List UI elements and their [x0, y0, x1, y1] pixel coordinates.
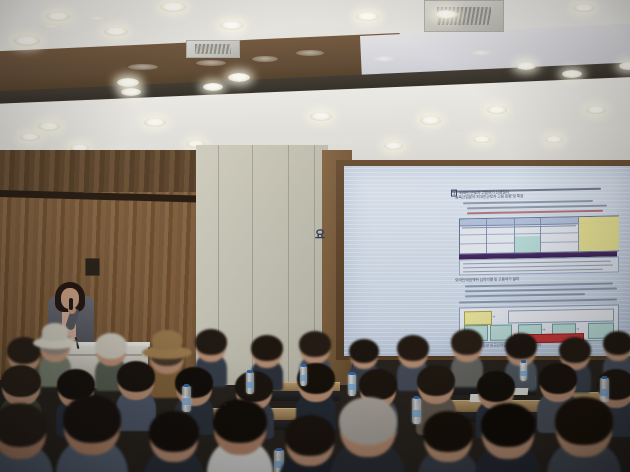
audience-member-hair [349, 339, 379, 363]
bottle-cap [414, 396, 420, 399]
water bottle [182, 386, 191, 412]
audience-member-hair [603, 331, 630, 355]
ceiling-downlight [562, 70, 582, 78]
ceiling-downlight [516, 62, 536, 70]
ceiling-downlight [434, 10, 458, 19]
audience-member-hair [423, 411, 473, 452]
audience-member-hair [559, 337, 591, 363]
water bottle [412, 398, 421, 424]
table-highlight-column [578, 222, 619, 251]
audience-member-hair [251, 335, 283, 361]
flow-start-box [464, 311, 492, 326]
flow-arrow-icon: ➜ [542, 327, 545, 332]
water bottle [348, 374, 356, 396]
bottle-cap [521, 360, 525, 363]
audience-member-hair [149, 411, 199, 452]
flow-arrow-icon: ➜ [576, 326, 579, 331]
ceiling-downlight [203, 83, 223, 91]
bottle-label [600, 389, 609, 396]
audience-member-hair [397, 335, 429, 361]
audience-member-hair [555, 397, 613, 445]
audience-member-hair [63, 395, 121, 443]
audience-member-hair [417, 365, 455, 396]
audience-member-hair [477, 371, 515, 402]
slide-text-line [463, 200, 593, 204]
water bottle [520, 362, 527, 381]
water bottle [600, 378, 609, 402]
ceiling-downlight [310, 112, 332, 121]
audience-member-hair [505, 333, 537, 359]
bottle-cap [349, 372, 354, 375]
panel-seam [288, 145, 289, 385]
slide-text-line [459, 298, 617, 303]
bottle-label [520, 371, 527, 377]
presentation-slide: 1외국인 근로자 고용허가 신청절차 농축산업분야 외국인근로자 고용 동향 및… [447, 170, 627, 351]
audience-member-hair [235, 371, 273, 402]
ceiling-downlight [372, 56, 396, 62]
vent-louvers [195, 44, 230, 54]
ceiling-downlight [619, 62, 630, 70]
wall-control-plate[interactable] [85, 258, 100, 276]
bottle-cap [247, 370, 252, 373]
ceiling-downlight [573, 4, 595, 12]
audience-member-hair [481, 403, 535, 447]
bottle-label [300, 375, 307, 381]
ceiling-downlight [160, 2, 186, 12]
bottle-label [412, 410, 421, 418]
flow-title-box [508, 309, 614, 324]
ceiling-downlight [470, 50, 492, 56]
audience-member-hair [175, 367, 213, 398]
ceiling-downlight [384, 142, 403, 150]
table-gridline [486, 219, 487, 253]
slide-flow-diagram: ➜ ➜ ➜ [459, 304, 619, 343]
bottle-label [348, 384, 356, 391]
bottle-cap [184, 384, 190, 387]
ceiling-downlight [20, 133, 40, 141]
hat-crown [42, 323, 68, 340]
slide-text-line [465, 283, 613, 287]
audience-member-hair [299, 331, 331, 357]
audience-member-hair [213, 399, 267, 443]
ceiling-downlight [46, 12, 70, 21]
ceiling-downlight [196, 60, 226, 66]
lecture-hall-photo: 요 1외국인 근로자 고용허가 신청절차 농축산업분야 외국인근로자 고용 동향… [0, 0, 630, 472]
ceiling-downlight [420, 116, 441, 125]
ceiling-downlight [356, 12, 379, 21]
ceiling-downlight [545, 136, 563, 143]
table-highlight-cell [514, 236, 540, 252]
handheld-microphone [69, 298, 73, 310]
projection-screen[interactable]: 1외국인 근로자 고용허가 신청절차 농축산업분야 외국인근로자 고용 동향 및… [344, 166, 630, 356]
table-gridline [540, 218, 541, 252]
water bottle [246, 372, 254, 394]
bottle-cap [276, 448, 282, 451]
ceiling-downlight [252, 56, 278, 62]
ceiling-downlight [40, 24, 62, 29]
audience-member-hair [359, 369, 397, 400]
slide-note-box [459, 256, 619, 275]
wall-panel-wood-upper [0, 150, 220, 192]
ceiling-downlight [296, 50, 324, 56]
audience-member-hair [1, 365, 41, 397]
bottle-label [246, 382, 254, 389]
ceiling-downlight [487, 106, 507, 114]
ceiling-downlight [220, 21, 243, 30]
ceiling-downlight [14, 36, 40, 46]
audience-member-hair [539, 363, 577, 394]
ceiling-downlight [86, 16, 108, 21]
ceiling-downlight [117, 78, 139, 87]
bottle-cap [602, 376, 608, 379]
ceiling-downlight [38, 122, 60, 131]
audience-member-hair [195, 329, 227, 355]
audience-member-hair [0, 403, 47, 447]
screen-scanline [344, 168, 630, 169]
slide-text-line [467, 205, 607, 209]
audience-member-hair [117, 361, 155, 392]
ceiling-downlight [228, 73, 250, 82]
audience-member-hair [451, 329, 483, 355]
ceiling-downlight [104, 27, 128, 36]
ceiling-vent-icon [186, 40, 240, 58]
slide-text-line [465, 287, 617, 291]
flow-arrow-icon: ➜ [492, 314, 495, 319]
bottle-cap [301, 364, 305, 367]
ceiling-downlight [473, 136, 491, 143]
ceiling-downlight [128, 64, 158, 70]
table-gridline [514, 218, 515, 252]
ceiling-downlight [121, 88, 141, 96]
water bottle [300, 366, 307, 386]
bottle-label [182, 398, 191, 406]
slide-text-line [465, 293, 585, 297]
ceiling-downlight [144, 118, 166, 127]
slide-text-line-highlight [467, 210, 603, 214]
ceiling-downlight [586, 106, 606, 114]
wall-sign: 요 [315, 226, 324, 242]
audience-member-hair [285, 415, 335, 456]
note-line [463, 269, 603, 273]
audience-member-hair [339, 397, 397, 445]
slide-table [459, 215, 619, 254]
hat-crown [152, 330, 182, 350]
audience-member-hair [95, 333, 127, 359]
